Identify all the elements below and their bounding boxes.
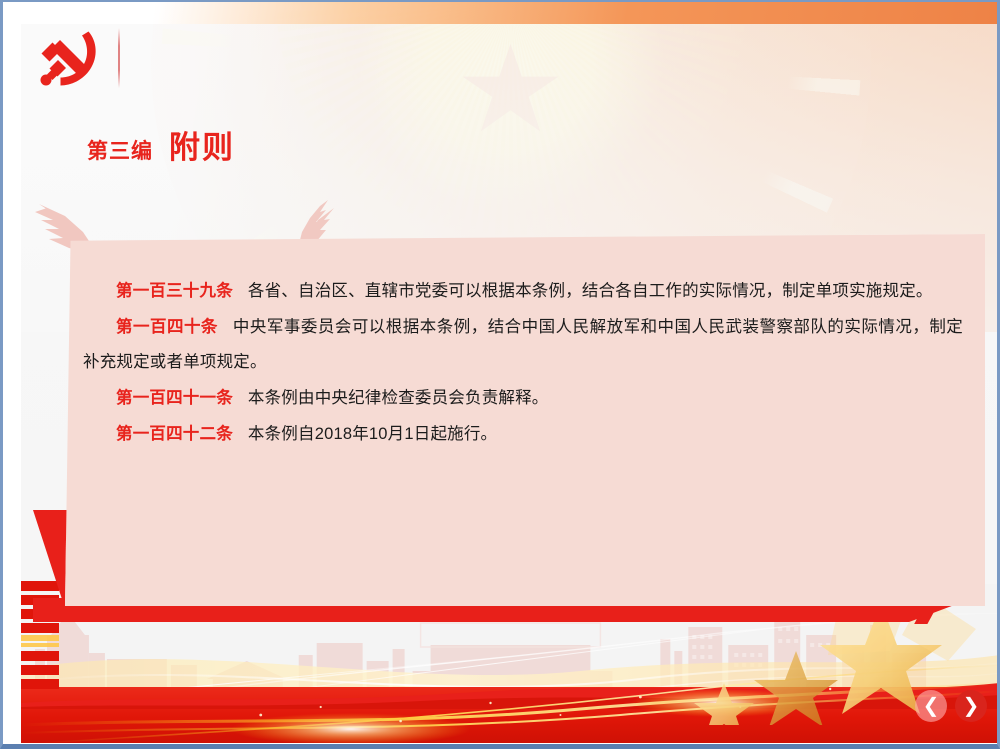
article-number: 第一百四十一条 [116,389,233,407]
list-item: 第一百三十九条各省、自治区、直辖市党委可以根据本条例，结合各自工作的实际情况，制… [83,274,963,309]
slide-navigation: ❮ ❯ [915,690,987,722]
chevron-left-icon: ❮ [923,696,940,716]
presentation-slide: 第三编 附则 [0,0,1000,749]
title-prefix: 第三编 [87,135,153,165]
red-footer-band [21,687,1000,743]
hammer-and-sickle-icon [27,24,109,96]
article-number: 第一百三十九条 [116,282,233,300]
background-star-icon [463,44,559,136]
article-text: 本条例自2018年10月1日起施行。 [248,425,497,443]
next-slide-button[interactable]: ❯ [955,690,987,722]
list-item: 第一百四十条中央军事委员会可以根据本条例，结合中国人民解放军和中国人民武装警察部… [83,310,963,380]
header-divider [118,28,120,88]
previous-slide-button[interactable]: ❮ [915,690,947,722]
top-orange-strip [21,2,1000,24]
page-title: 第三编 附则 [87,122,235,167]
article-number: 第一百四十条 [116,318,218,336]
article-list: 第一百三十九条各省、自治区、直辖市党委可以根据本条例，结合各自工作的实际情况，制… [83,274,963,453]
title-main: 附则 [169,122,235,167]
chevron-right-icon: ❯ [963,696,980,716]
list-item: 第一百四十二条本条例自2018年10月1日起施行。 [83,417,963,452]
list-item: 第一百四十一条本条例由中央纪律检查委员会负责解释。 [83,381,963,416]
article-number: 第一百四十二条 [116,425,233,443]
article-text: 各省、自治区、直辖市党委可以根据本条例，结合各自工作的实际情况，制定单项实施规定… [248,282,933,300]
medallion-rays-decoration [276,2,746,236]
article-text: 本条例由中央纪律检查委员会负责解释。 [248,389,549,407]
slide-canvas: 第三编 附则 [21,2,1000,743]
